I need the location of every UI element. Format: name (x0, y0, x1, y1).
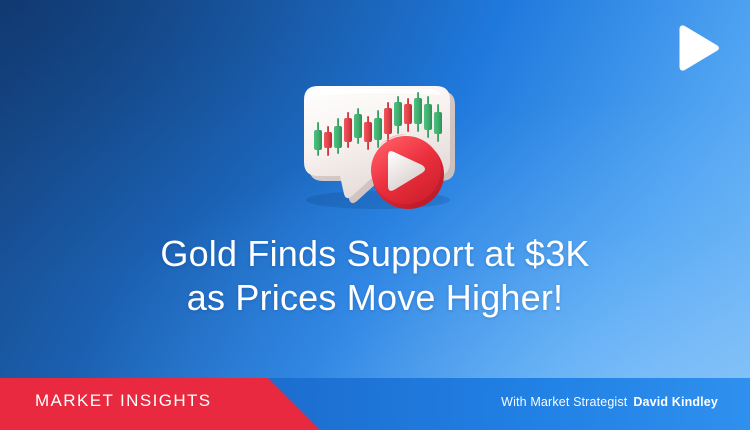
market-insights-banner: Gold Finds Support at $3K as Prices Move… (0, 0, 750, 430)
corner-play-icon[interactable] (672, 24, 722, 72)
credit-prefix: With Market Strategist (501, 395, 627, 409)
headline-line-2: as Prices Move Higher! (0, 276, 750, 320)
background-sheen-light (0, 0, 750, 430)
headline-line-1: Gold Finds Support at $3K (0, 232, 750, 276)
page-title: Gold Finds Support at $3K as Prices Move… (0, 232, 750, 320)
background-vignette-dark (0, 0, 750, 430)
speech-bubble-candlestick-graphic (282, 78, 468, 210)
section-label: MARKET INSIGHTS (35, 391, 212, 411)
credit-name: David Kindley (633, 395, 718, 409)
bottom-bar: MARKET INSIGHTS With Market StrategistDa… (0, 378, 750, 430)
strategist-credit: With Market StrategistDavid Kindley (501, 395, 718, 409)
